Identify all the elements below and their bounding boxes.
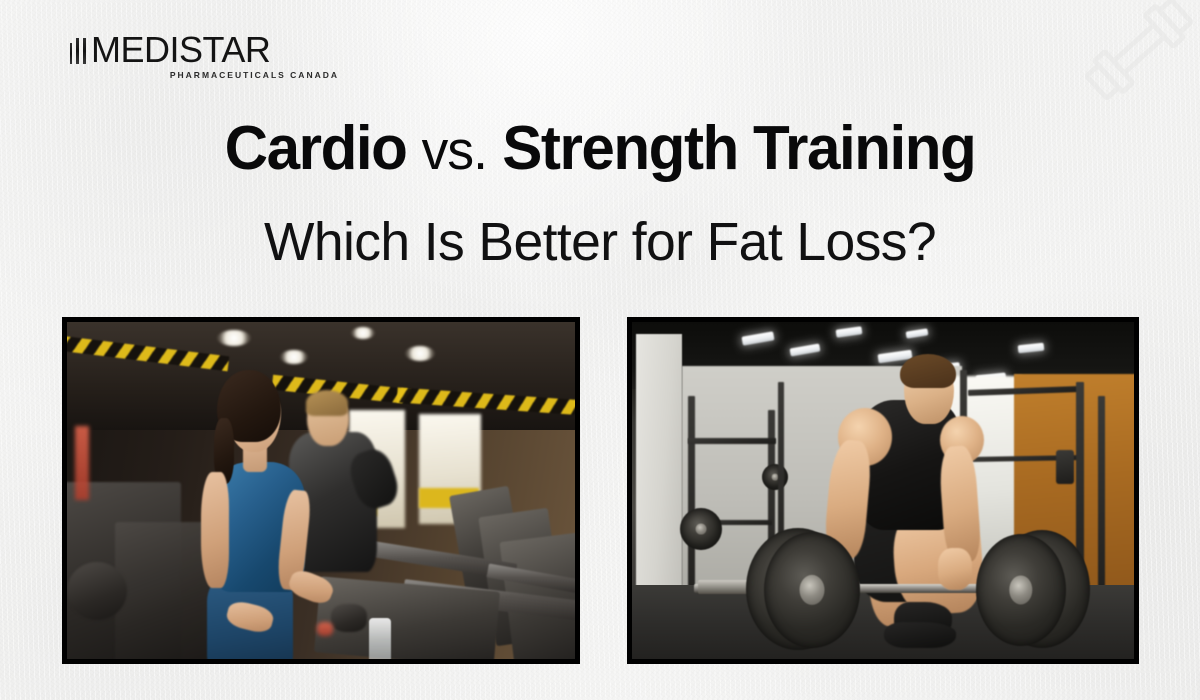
headline-block: Cardio vs. Strength Training Which Is Be… xyxy=(0,112,1200,275)
page-subtitle: Which Is Better for Fat Loss? xyxy=(6,209,1194,275)
logo-wordmark-row: MEDISTAR xyxy=(70,30,340,66)
logo-tagline: PHARMACEUTICALS CANADA xyxy=(70,70,340,80)
strength-photo-image xyxy=(632,322,1134,659)
logo-wordmark: MEDISTAR xyxy=(91,34,270,66)
title-vs: vs. xyxy=(422,119,487,181)
page-title: Cardio vs. Strength Training xyxy=(18,112,1182,187)
title-part-cardio: Cardio xyxy=(225,114,407,183)
banner-canvas: MEDISTAR PHARMACEUTICALS CANADA Cardio v… xyxy=(0,0,1200,700)
brand-logo[interactable]: MEDISTAR PHARMACEUTICALS CANADA xyxy=(70,30,340,82)
logo-bars-icon xyxy=(70,38,86,66)
title-part-strength: Strength Training xyxy=(502,114,975,183)
strength-photo xyxy=(627,317,1139,664)
cardio-photo xyxy=(62,317,580,664)
cardio-photo-image xyxy=(67,322,575,659)
